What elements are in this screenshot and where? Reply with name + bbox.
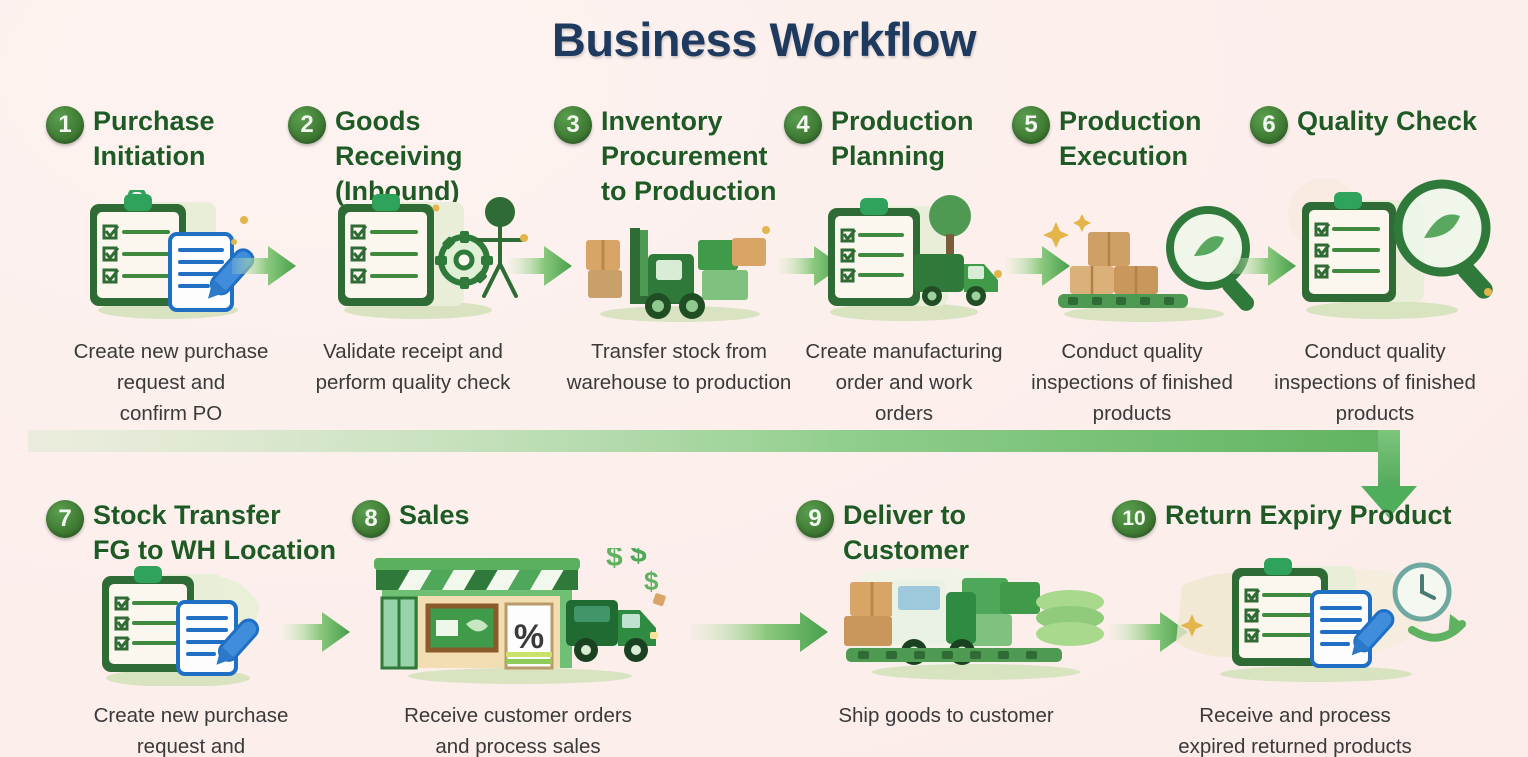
step-9-description: Ship goods to customer <box>796 700 1096 731</box>
step-6-number-badge: 6 <box>1250 106 1288 144</box>
step-4-description: Create manufacturing order and work orde… <box>784 336 1024 429</box>
step-1-header: 1 Purchase Initiation <box>46 104 296 174</box>
step-7-description: Create new purchase request and <box>46 700 336 757</box>
step-4: 4 Production Planning <box>784 104 1024 174</box>
step-4-title: Production Planning <box>831 104 974 174</box>
step-3-number-badge: 3 <box>554 106 592 144</box>
step-1-description: Create new purchase request and confirm … <box>46 336 296 429</box>
step-1-title: Purchase Initiation <box>93 104 215 174</box>
step-2-description: Validate receipt and perform quality che… <box>288 336 538 398</box>
boxes-conveyor-magnifier-icon <box>1040 196 1260 322</box>
arrow-step-8-to-9 <box>690 608 830 661</box>
step-3-title: Inventory Procurement to Production <box>601 104 776 208</box>
step-9-number-badge: 9 <box>796 500 834 538</box>
clipboard-document-pen-icon <box>82 562 278 686</box>
step-1-number-badge: 1 <box>46 106 84 144</box>
svg-text:%: % <box>514 618 544 656</box>
step-6-description: Conduct quality inspections of finished … <box>1250 336 1500 429</box>
step-7-title: Stock Transfer FG to WH Location <box>93 498 336 568</box>
step-5-header: 5 Production Execution <box>1012 104 1252 174</box>
step-4-number-badge: 4 <box>784 106 822 144</box>
arrow-step-1-to-2 <box>232 242 298 295</box>
step-6-title: Quality Check <box>1297 104 1477 139</box>
svg-text:$: $ <box>644 566 659 596</box>
step-6-header: 6 Quality Check <box>1250 104 1500 144</box>
step-8-title: Sales <box>399 498 470 533</box>
step-7: 7 Stock Transfer FG to WH Location <box>46 498 346 568</box>
step-8: 8 Sales <box>352 498 592 538</box>
page-title: Business Workflow <box>0 12 1528 67</box>
step-8-header: 8 Sales <box>352 498 592 538</box>
clipboard-truck-tree-icon <box>808 190 1008 322</box>
step-5: 5 Production Execution <box>1012 104 1252 174</box>
clipboard-magnifier-icon <box>1282 170 1502 320</box>
step-8-description: Receive customer orders and process sale… <box>368 700 668 757</box>
step-3: 3 Inventory Procurement to Production <box>554 104 804 208</box>
step-5-title: Production Execution <box>1059 104 1202 174</box>
step-7-number-badge: 7 <box>46 500 84 538</box>
workflow-diagram: Business Workflow 1 Purchase Initiation <box>0 0 1528 757</box>
clipboard-document-clock-icon <box>1176 552 1466 682</box>
clipboard-gear-inspector-icon <box>318 186 528 320</box>
step-4-header: 4 Production Planning <box>784 104 1024 174</box>
step-6: 6 Quality Check <box>1250 104 1500 144</box>
step-10: 10 Return Expiry Product <box>1112 498 1462 538</box>
step-10-header: 10 Return Expiry Product <box>1112 498 1462 538</box>
step-5-number-badge: 5 <box>1012 106 1050 144</box>
step-7-header: 7 Stock Transfer FG to WH Location <box>46 498 346 568</box>
forklift-boxes-icon <box>580 218 780 322</box>
step-8-number-badge: 8 <box>352 500 390 538</box>
arrow-step-2-to-3 <box>508 242 574 295</box>
step-3-description: Transfer stock from warehouse to product… <box>554 336 804 398</box>
storefront-truck-money-icon: % <box>370 548 670 684</box>
delivery-truck-boxes-icon <box>840 548 1120 680</box>
step-10-number-badge: 10 <box>1112 500 1156 538</box>
step-10-description: Receive and process expired returned pro… <box>1130 700 1460 757</box>
step-2-number-badge: 2 <box>288 106 326 144</box>
svg-text:$: $ <box>606 548 623 573</box>
step-10-title: Return Expiry Product <box>1165 498 1452 533</box>
step-3-header: 3 Inventory Procurement to Production <box>554 104 804 208</box>
step-5-description: Conduct quality inspections of finished … <box>1012 336 1252 429</box>
step-1: 1 Purchase Initiation <box>46 104 296 174</box>
arrow-step-7-to-8 <box>282 608 352 661</box>
